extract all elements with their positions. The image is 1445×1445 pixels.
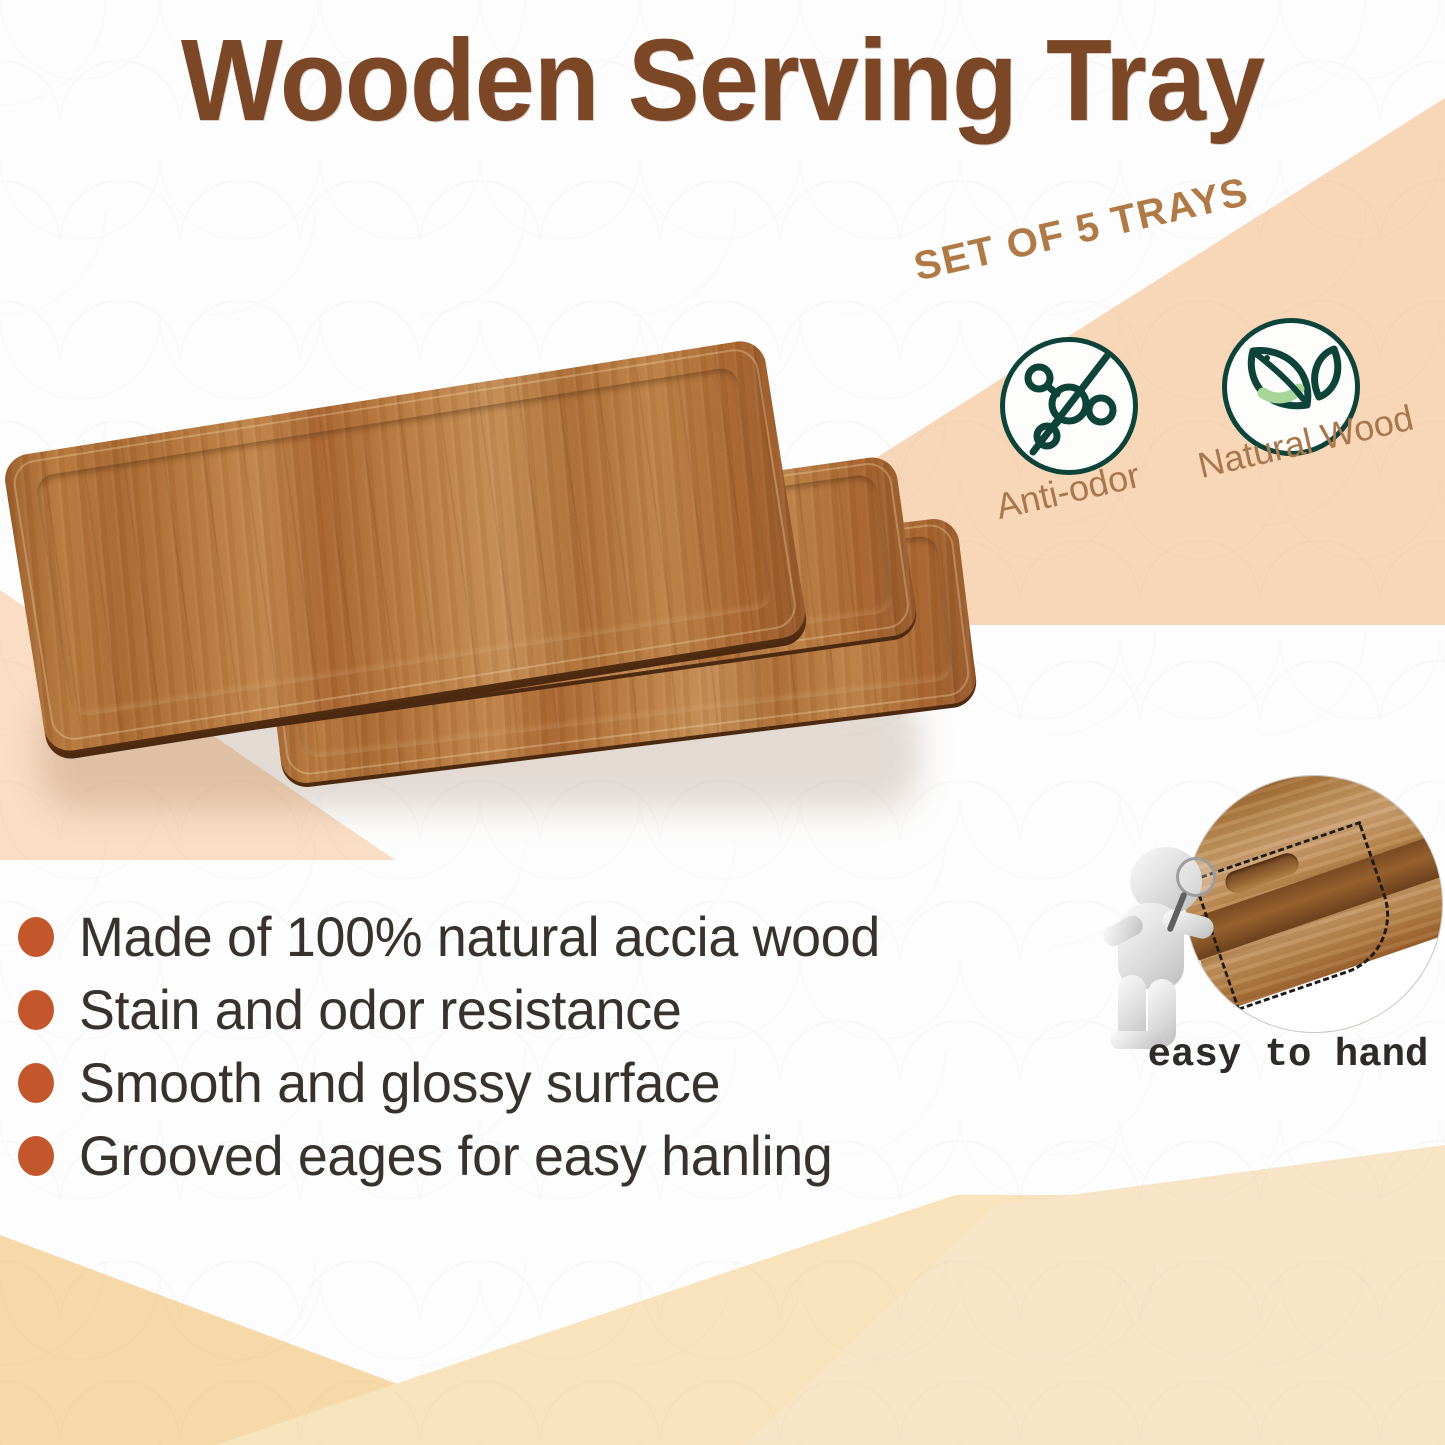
magnifier-inspection-icon <box>1185 775 1443 1033</box>
list-item: Stain and odor resistance <box>18 973 1038 1046</box>
bullet-dot-icon <box>18 990 54 1030</box>
page-title: Wooden Serving Tray <box>51 18 1395 143</box>
bullet-dot-icon <box>18 1136 54 1176</box>
callout-label: easy to hand <box>1128 1033 1445 1077</box>
easy-to-hand-callout: easy to hand <box>1090 775 1445 1080</box>
product-infographic-poster: Wooden Serving Tray SET OF 5 TRAYS <box>0 0 1445 1445</box>
feature-list: Made of 100% natural accia wood Stain an… <box>18 900 1038 1192</box>
bullet-dot-icon <box>18 917 54 957</box>
list-item: Made of 100% natural accia wood <box>18 900 1038 973</box>
list-item: Smooth and glossy surface <box>18 1046 1038 1119</box>
badge-natural-wood: Natural Wood <box>1222 318 1360 456</box>
product-image-stacked-trays <box>0 390 990 810</box>
bullet-dot-icon <box>18 1063 54 1103</box>
list-item: Grooved eages for easy hanling <box>18 1119 1038 1192</box>
feature-text: Made of 100% natural accia wood <box>79 904 880 969</box>
molecule-no-odor-icon <box>1017 352 1121 461</box>
badge-circle-anti-odor <box>1000 337 1138 475</box>
magnifier-lens-ring <box>1176 857 1216 897</box>
feature-text: Grooved eages for easy hanling <box>79 1123 832 1188</box>
badge-anti-odor: Anti-odor <box>1000 337 1138 475</box>
feature-text: Smooth and glossy surface <box>79 1050 720 1115</box>
feature-text: Stain and odor resistance <box>79 977 681 1042</box>
